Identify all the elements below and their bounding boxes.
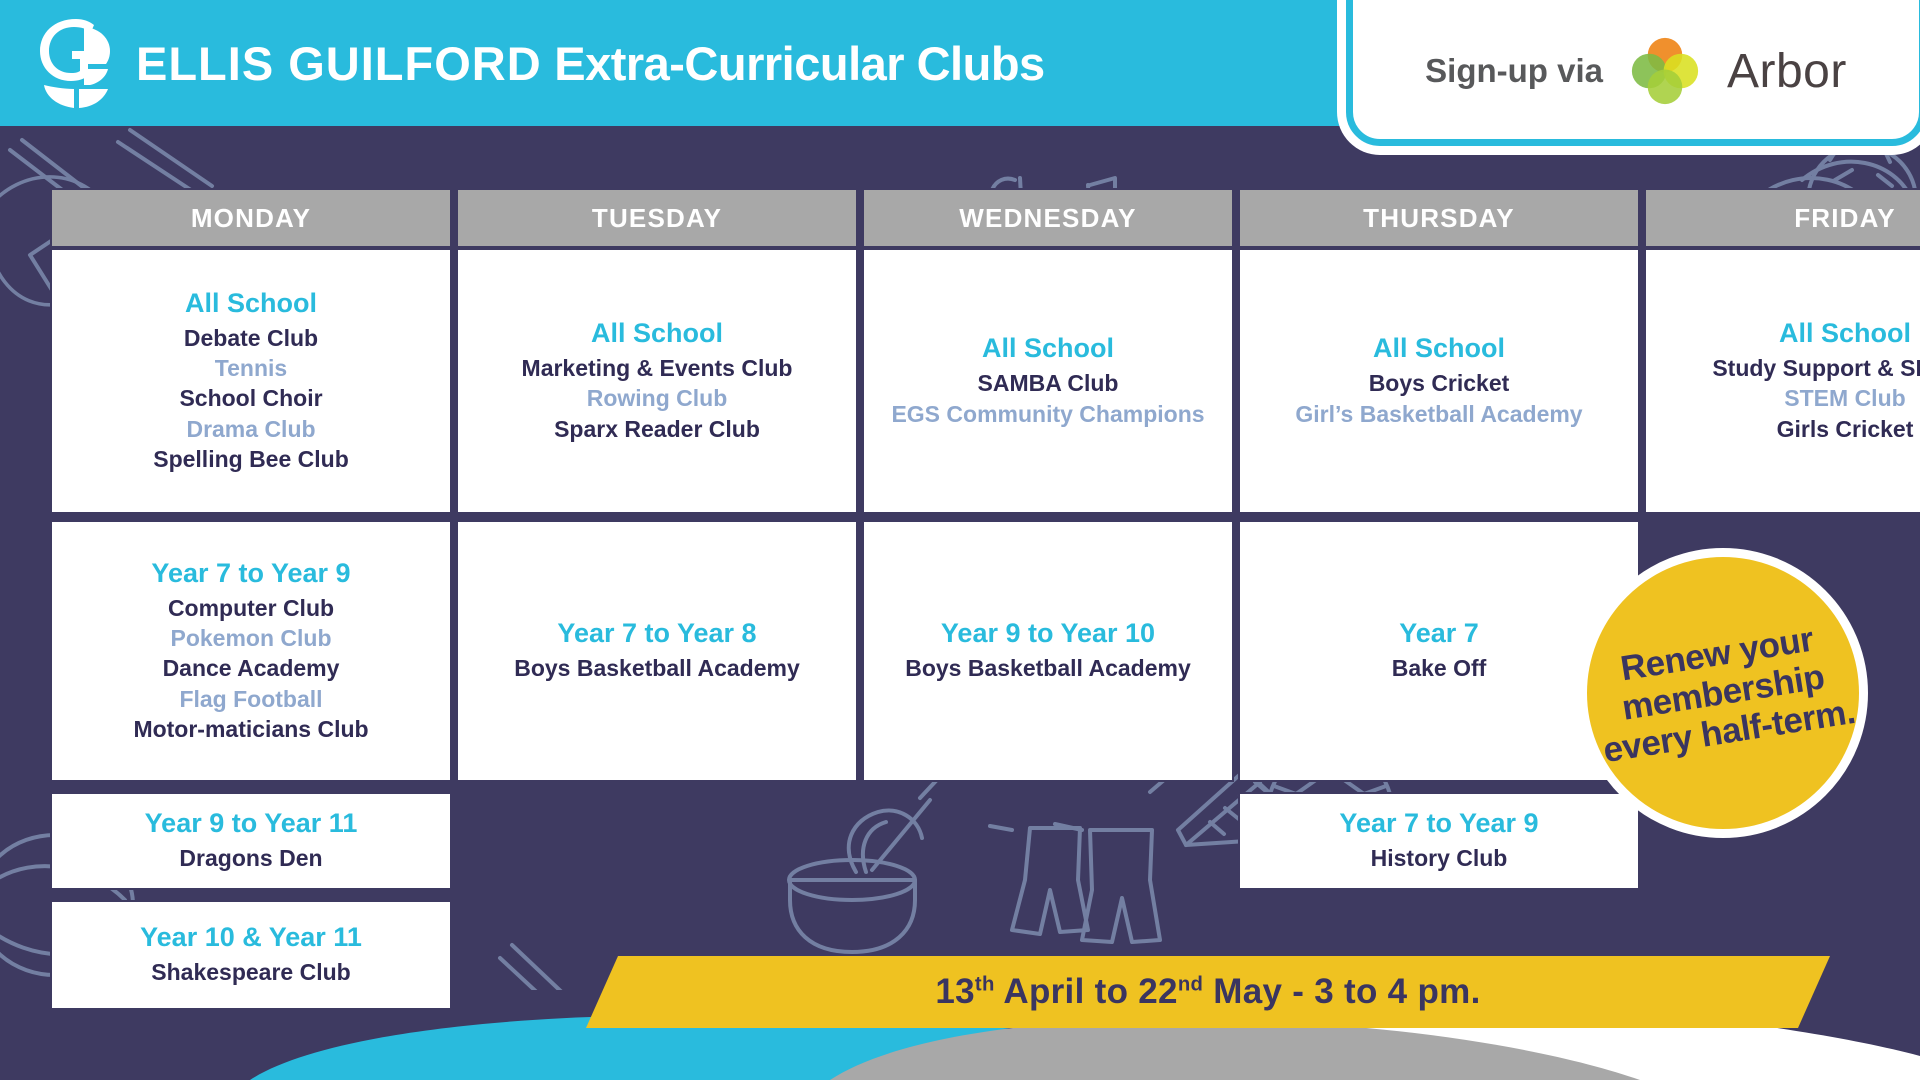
- cell-item: SAMBA Club: [978, 368, 1119, 398]
- cell-item: Marketing & Events Club: [522, 353, 793, 383]
- date-month-1: April to: [995, 972, 1139, 1011]
- day-header-tuesday: TUESDAY: [456, 188, 858, 248]
- cell-item: History Club: [1371, 843, 1508, 873]
- cell-wednesday-1[interactable]: All School SAMBA Club EGS Community Cham…: [862, 248, 1234, 514]
- school-logo-icon: [36, 15, 114, 111]
- cell-heading: All School: [591, 318, 723, 349]
- date-day-2-ordinal: nd: [1178, 973, 1203, 995]
- cell-heading: All School: [982, 333, 1114, 364]
- cell-item: Flag Football: [179, 684, 322, 714]
- cell-heading: Year 9 to Year 10: [941, 618, 1155, 649]
- cell-heading: All School: [1373, 333, 1505, 364]
- date-rest: May - 3 to 4 pm.: [1203, 972, 1480, 1011]
- cell-tuesday-1[interactable]: All School Marketing & Events Club Rowin…: [456, 248, 858, 514]
- date-day-2: 22: [1138, 972, 1178, 1011]
- timetable-header-row: MONDAY TUESDAY WEDNESDAY THURSDAY FRIDAY: [50, 188, 1636, 248]
- cell-item: EGS Community Champions: [891, 399, 1204, 429]
- cell-item: Dragons Den: [179, 843, 322, 873]
- page-title: ELLIS GUILFORD Extra-Curricular Clubs: [136, 36, 1045, 91]
- cell-item: Sparx Reader Club: [554, 414, 760, 444]
- cell-monday-4[interactable]: Year 10 & Year 11 Shakespeare Club: [50, 900, 452, 1010]
- cell-item: Pokemon Club: [170, 623, 331, 653]
- cell-item: School Choir: [179, 383, 322, 413]
- cell-item: Computer Club: [168, 593, 334, 623]
- cell-wednesday-2[interactable]: Year 9 to Year 10 Boys Basketball Academ…: [862, 520, 1234, 782]
- header-bar: ELLIS GUILFORD Extra-Curricular Clubs: [0, 0, 1348, 126]
- date-day-1: 13: [935, 972, 975, 1011]
- day-header-monday: MONDAY: [50, 188, 452, 248]
- cell-friday-1[interactable]: All School Study Support & SPARX STEM Cl…: [1644, 248, 1920, 514]
- timetable-row-1: All School Debate Club Tennis School Cho…: [50, 248, 1636, 514]
- cell-item: Spelling Bee Club: [153, 444, 349, 474]
- cell-heading: All School: [1779, 318, 1911, 349]
- cell-item: Debate Club: [184, 323, 318, 353]
- cell-heading: Year 7: [1399, 618, 1479, 649]
- cell-heading: Year 9 to Year 11: [145, 808, 358, 839]
- cell-item: Boys Basketball Academy: [905, 653, 1191, 683]
- cell-item: Shakespeare Club: [151, 957, 350, 987]
- date-time-banner: 13th April to 22nd May - 3 to 4 pm.: [586, 956, 1830, 1028]
- page-title-rest: Extra-Curricular Clubs: [542, 37, 1045, 90]
- cell-tuesday-3-empty: [456, 792, 858, 890]
- day-header-thursday: THURSDAY: [1238, 188, 1640, 248]
- page-title-school: ELLIS GUILFORD: [136, 37, 542, 90]
- renew-membership-badge: Renew your membership every half-term.: [1578, 548, 1868, 838]
- cell-monday-3[interactable]: Year 9 to Year 11 Dragons Den: [50, 792, 452, 890]
- cell-item: STEM Club: [1784, 383, 1905, 413]
- timetable-row-2: Year 7 to Year 9 Computer Club Pokemon C…: [50, 520, 1636, 782]
- cell-heading: Year 7 to Year 9: [1339, 808, 1538, 839]
- day-header-friday: FRIDAY: [1644, 188, 1920, 248]
- cell-tuesday-2[interactable]: Year 7 to Year 8 Boys Basketball Academy: [456, 520, 858, 782]
- cell-item: Dance Academy: [163, 653, 340, 683]
- cell-item: Boys Cricket: [1369, 368, 1510, 398]
- cell-thursday-1[interactable]: All School Boys Cricket Girl’s Basketbal…: [1238, 248, 1640, 514]
- cell-monday-2[interactable]: Year 7 to Year 9 Computer Club Pokemon C…: [50, 520, 452, 782]
- cell-heading: All School: [185, 288, 317, 319]
- signup-label: Sign-up via: [1425, 52, 1603, 90]
- cell-thursday-2[interactable]: Year 7 Bake Off: [1238, 520, 1640, 782]
- cell-item: Bake Off: [1392, 653, 1487, 683]
- cell-heading: Year 7 to Year 8: [557, 618, 756, 649]
- cell-thursday-3[interactable]: Year 7 to Year 9 History Club: [1238, 792, 1640, 890]
- timetable-row-3: Year 9 to Year 11 Dragons Den Year 7 to …: [50, 792, 1636, 890]
- cell-item: Boys Basketball Academy: [514, 653, 800, 683]
- arbor-four-petal-icon: [1629, 35, 1701, 107]
- cell-item: Girls Cricket: [1777, 414, 1914, 444]
- cell-item: Tennis: [215, 353, 287, 383]
- cell-item: Rowing Club: [587, 383, 728, 413]
- day-header-wednesday: WEDNESDAY: [862, 188, 1234, 248]
- cell-monday-1[interactable]: All School Debate Club Tennis School Cho…: [50, 248, 452, 514]
- cell-item: Study Support & SPARX: [1712, 353, 1920, 383]
- clubs-timetable: MONDAY TUESDAY WEDNESDAY THURSDAY FRIDAY…: [50, 188, 1636, 1010]
- date-banner-text: 13th April to 22nd May - 3 to 4 pm.: [935, 972, 1480, 1012]
- date-day-1-ordinal: th: [975, 973, 995, 995]
- cell-heading: Year 10 & Year 11: [140, 922, 362, 953]
- cell-item: Motor-maticians Club: [133, 714, 368, 744]
- cell-wednesday-3-empty: [862, 792, 1234, 890]
- cell-item: Drama Club: [186, 414, 315, 444]
- cell-heading: Year 7 to Year 9: [151, 558, 350, 589]
- arbor-wordmark: Arbor: [1727, 44, 1847, 99]
- signup-via-arbor-card[interactable]: Sign-up via Arbor: [1346, 0, 1920, 146]
- cell-item: Girl’s Basketball Academy: [1295, 399, 1582, 429]
